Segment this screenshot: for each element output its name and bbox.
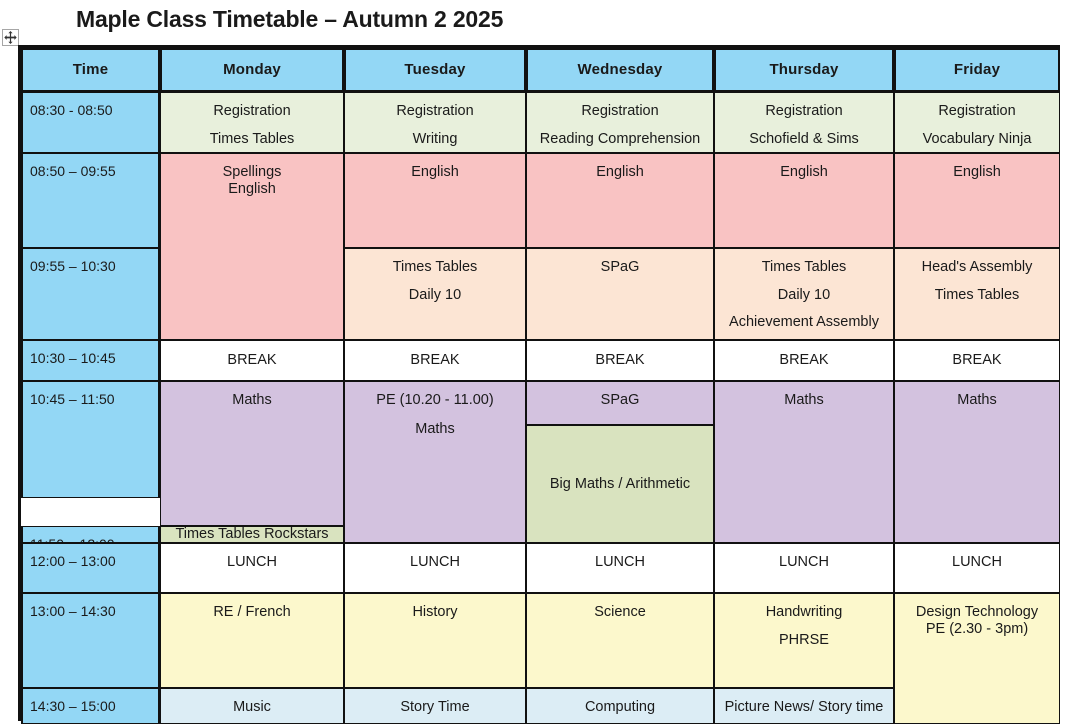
cell-pe-maths-tuesday[interactable]: PE (10.20 - 11.00)Maths: [344, 381, 526, 543]
cell-line: Monday: [162, 61, 342, 78]
cell-line: PHRSE: [715, 632, 893, 649]
page-title: Maple Class Timetable – Autumn 2 2025: [76, 6, 503, 33]
table-move-handle[interactable]: [2, 29, 19, 46]
cell-line: LUNCH: [895, 554, 1059, 571]
cell-line: Thursday: [716, 61, 892, 78]
cell-afternoon-thursday[interactable]: HandwritingPHRSE: [714, 593, 894, 688]
cell-line: Handwriting: [715, 604, 893, 621]
cell-endofday-wednesday[interactable]: Computing: [526, 688, 714, 724]
cell-line: 08:30 - 08:50: [21, 102, 160, 118]
cell-line: Achievement Assembly: [715, 314, 893, 331]
cell-line: Times Tables Rockstars: [161, 526, 343, 543]
column-header-friday: Friday: [894, 48, 1060, 92]
cell-line: Registration: [161, 103, 343, 120]
cell-line: 12:00 – 13:00: [21, 553, 160, 569]
cell-line: Times Tables: [345, 259, 525, 276]
cell-line: Picture News/ Story time: [715, 699, 893, 716]
time-slot-8: 13:00 – 14:30: [21, 593, 160, 688]
cell-afternoon-friday[interactable]: Design TechnologyPE (2.30 - 3pm): [894, 593, 1060, 724]
cell-line: History: [345, 604, 525, 621]
cell-endofday-thursday[interactable]: Picture News/ Story time: [714, 688, 894, 724]
cell-line: LUNCH: [345, 554, 525, 571]
cell-line: SPaG: [527, 392, 713, 409]
cell-line: PE (2.30 - 3pm): [895, 621, 1059, 638]
cell-maths-monday[interactable]: Maths: [160, 381, 344, 526]
move-cross-icon: [3, 30, 18, 45]
cell-line: Big Maths / Arithmetic: [527, 476, 713, 493]
cell-afternoon-tuesday[interactable]: History: [344, 593, 526, 688]
column-header-wednesday: Wednesday: [526, 48, 714, 92]
cell-line: Daily 10: [345, 287, 525, 304]
cell-line: LUNCH: [161, 554, 343, 571]
cell-break-friday[interactable]: BREAK: [894, 340, 1060, 381]
cell-line: English: [345, 164, 525, 181]
cell-line: LUNCH: [527, 554, 713, 571]
cell-line: English: [161, 181, 343, 198]
time-slot-1: 08:30 - 08:50: [21, 92, 160, 153]
cell-english-thursday[interactable]: English: [714, 153, 894, 248]
column-header-tuesday: Tuesday: [344, 48, 526, 92]
cell-line: 13:00 – 14:30: [21, 603, 160, 619]
cell-line: Daily 10: [715, 287, 893, 304]
cell-lunch-monday[interactable]: LUNCH: [160, 543, 344, 593]
cell-line: 11:50 – 12:00: [21, 536, 160, 543]
cell-line: 10:45 – 11:50: [21, 391, 160, 407]
cell-line: Registration: [895, 103, 1059, 120]
cell-line: 14:30 – 15:00: [21, 698, 160, 714]
cell-line: BREAK: [527, 352, 713, 369]
cell-lunch-friday[interactable]: LUNCH: [894, 543, 1060, 593]
cell-lunch-thursday[interactable]: LUNCH: [714, 543, 894, 593]
cell-line: Registration: [715, 103, 893, 120]
cell-line: Spellings: [161, 164, 343, 181]
time-slot-3: 09:55 – 10:30: [21, 248, 160, 340]
cell-english-friday[interactable]: English: [894, 153, 1060, 248]
cell-endofday-tuesday[interactable]: Story Time: [344, 688, 526, 724]
cell-line: Writing: [345, 131, 525, 148]
cell-line: Vocabulary Ninja: [895, 131, 1059, 148]
cell-line: Schofield & Sims: [715, 131, 893, 148]
time-slot-5: 10:45 – 11:50: [21, 381, 160, 498]
cell-english-monday[interactable]: SpellingsEnglish: [160, 153, 344, 340]
time-slot-9: 14:30 – 15:00: [21, 688, 160, 724]
cell-line: Maths: [715, 392, 893, 409]
cell-registration-monday[interactable]: RegistrationTimes Tables: [160, 92, 344, 153]
cell-line: SPaG: [527, 259, 713, 276]
cell-registration-wednesday[interactable]: RegistrationReading Comprehension: [526, 92, 714, 153]
cell-break-monday[interactable]: BREAK: [160, 340, 344, 381]
cell-line: Registration: [345, 103, 525, 120]
cell-bigmaths-wednesday[interactable]: Big Maths / Arithmetic: [526, 425, 714, 543]
cell-spag-wednesday[interactable]: SPaG: [526, 381, 714, 425]
cell-line: English: [527, 164, 713, 181]
cell-line: LUNCH: [715, 554, 893, 571]
cell-lunch-tuesday[interactable]: LUNCH: [344, 543, 526, 593]
cell-line: Head's Assembly: [895, 259, 1059, 276]
cell-0955-tuesday[interactable]: Times TablesDaily 10: [344, 248, 526, 340]
cell-line: Registration: [527, 103, 713, 120]
cell-0955-thursday[interactable]: Times TablesDaily 10Achievement Assembly: [714, 248, 894, 340]
cell-line: Music: [161, 699, 343, 716]
cell-maths-thursday[interactable]: Maths: [714, 381, 894, 543]
cell-afternoon-wednesday[interactable]: Science: [526, 593, 714, 688]
cell-lunch-wednesday[interactable]: LUNCH: [526, 543, 714, 593]
cell-afternoon-monday[interactable]: RE / French: [160, 593, 344, 688]
cell-line: Maths: [895, 392, 1059, 409]
cell-break-thursday[interactable]: BREAK: [714, 340, 894, 381]
cell-ttrockstars-monday[interactable]: Times Tables Rockstars: [160, 526, 344, 543]
cell-english-tuesday[interactable]: English: [344, 153, 526, 248]
time-slot-4: 10:30 – 10:45: [21, 340, 160, 381]
time-slot-2: 08:50 – 09:55: [21, 153, 160, 248]
cell-line: Design Technology: [895, 604, 1059, 621]
time-slot-6: 11:50 – 12:00: [21, 526, 160, 543]
cell-maths-friday[interactable]: Maths: [894, 381, 1060, 543]
column-header-thursday: Thursday: [714, 48, 894, 92]
cell-line: Maths: [161, 392, 343, 409]
cell-line: 09:55 – 10:30: [21, 258, 160, 274]
cell-line: BREAK: [345, 352, 525, 369]
column-header-time: Time: [21, 48, 160, 92]
cell-registration-tuesday[interactable]: RegistrationWriting: [344, 92, 526, 153]
cell-break-wednesday[interactable]: BREAK: [526, 340, 714, 381]
cell-line: Computing: [527, 699, 713, 716]
cell-line: Wednesday: [528, 61, 712, 78]
cell-line: Times Tables: [161, 131, 343, 148]
cell-line: RE / French: [161, 604, 343, 621]
cell-break-tuesday[interactable]: BREAK: [344, 340, 526, 381]
cell-line: BREAK: [895, 352, 1059, 369]
cell-line: Reading Comprehension: [527, 131, 713, 148]
cell-registration-thursday[interactable]: RegistrationSchofield & Sims: [714, 92, 894, 153]
cell-line: Tuesday: [346, 61, 524, 78]
cell-endofday-monday[interactable]: Music: [160, 688, 344, 724]
cell-line: Maths: [345, 421, 525, 438]
cell-english-wednesday[interactable]: English: [526, 153, 714, 248]
cell-line: English: [895, 164, 1059, 181]
cell-0955-wednesday[interactable]: SPaG: [526, 248, 714, 340]
cell-line: 08:50 – 09:55: [21, 163, 160, 179]
cell-line: BREAK: [715, 352, 893, 369]
cell-line: Story Time: [345, 699, 525, 716]
cell-line: Times Tables: [895, 287, 1059, 304]
cell-line: Time: [23, 61, 158, 78]
column-header-monday: Monday: [160, 48, 344, 92]
time-slot-7: 12:00 – 13:00: [21, 543, 160, 593]
timetable-table: TimeMondayTuesdayWednesdayThursdayFriday…: [18, 45, 1060, 721]
cell-line: Science: [527, 604, 713, 621]
cell-line: PE (10.20 - 11.00): [345, 392, 525, 409]
cell-line: English: [715, 164, 893, 181]
cell-line: Times Tables: [715, 259, 893, 276]
cell-line: BREAK: [161, 352, 343, 369]
cell-line: 10:30 – 10:45: [21, 350, 160, 366]
cell-registration-friday[interactable]: RegistrationVocabulary Ninja: [894, 92, 1060, 153]
cell-line: Friday: [896, 61, 1058, 78]
cell-0955-friday[interactable]: Head's AssemblyTimes Tables: [894, 248, 1060, 340]
